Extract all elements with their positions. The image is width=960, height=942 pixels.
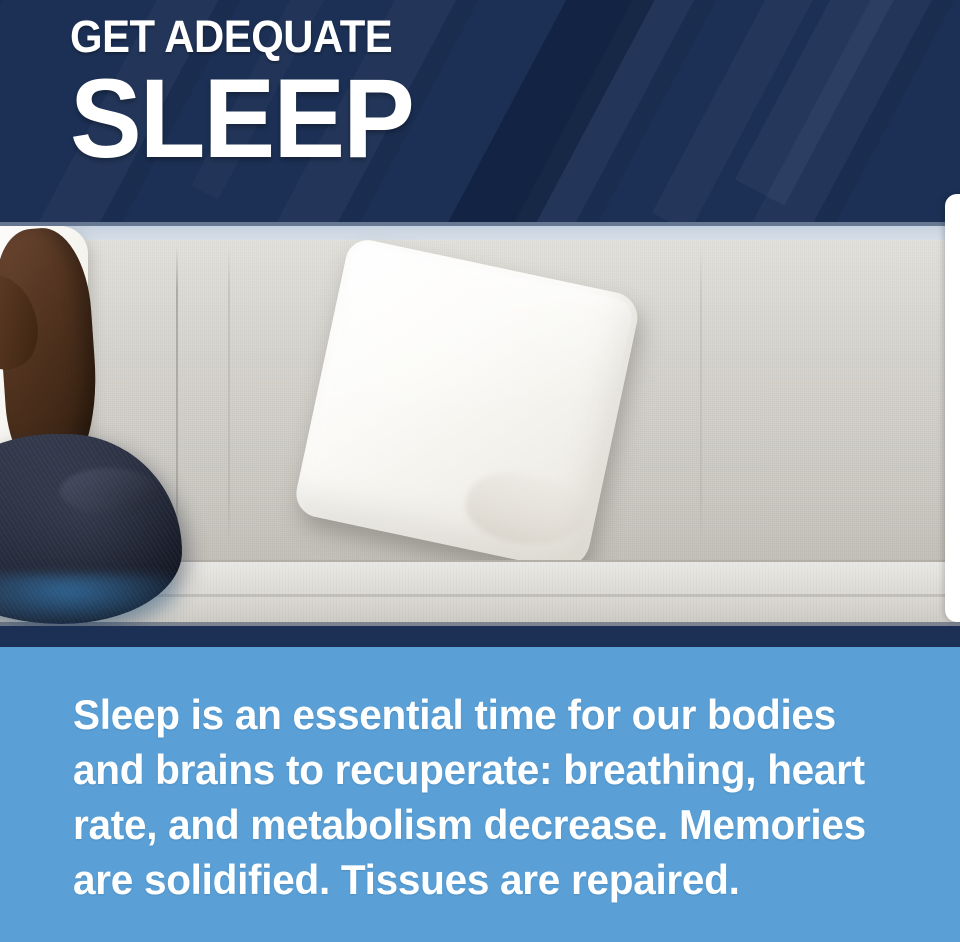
page-title: SLEEP bbox=[70, 65, 413, 173]
navy-divider-strip bbox=[0, 626, 960, 647]
header-text-block: GET ADEQUATE SLEEP bbox=[70, 14, 427, 173]
title-kicker: GET ADEQUATE bbox=[70, 14, 402, 59]
sleep-infographic: GET ADEQUATE SLEEP bbox=[0, 0, 960, 942]
hero-photo bbox=[0, 222, 960, 626]
person-knee-highlight bbox=[60, 468, 158, 514]
diagonal-accent-wedge bbox=[652, 0, 910, 222]
header-banner: GET ADEQUATE SLEEP bbox=[0, 0, 960, 222]
photo-top-edge bbox=[0, 222, 960, 226]
blue-light-glow bbox=[0, 574, 180, 626]
cushion-seam bbox=[228, 246, 230, 546]
diagonal-accent-wedge bbox=[735, 0, 960, 206]
white-rounded-overlay-panel[interactable] bbox=[945, 194, 960, 622]
cushion-seam bbox=[700, 246, 702, 546]
cushion-seam bbox=[176, 246, 178, 546]
photo-scene bbox=[0, 222, 960, 626]
white-throw-pillow bbox=[292, 236, 642, 574]
footer-body-text: Sleep is an essential time for our bodie… bbox=[73, 687, 874, 907]
footer-caption-block: Sleep is an essential time for our bodie… bbox=[0, 647, 960, 942]
diagonal-accent-wedge bbox=[399, 0, 689, 222]
pillow-fold-shadow bbox=[460, 463, 592, 556]
